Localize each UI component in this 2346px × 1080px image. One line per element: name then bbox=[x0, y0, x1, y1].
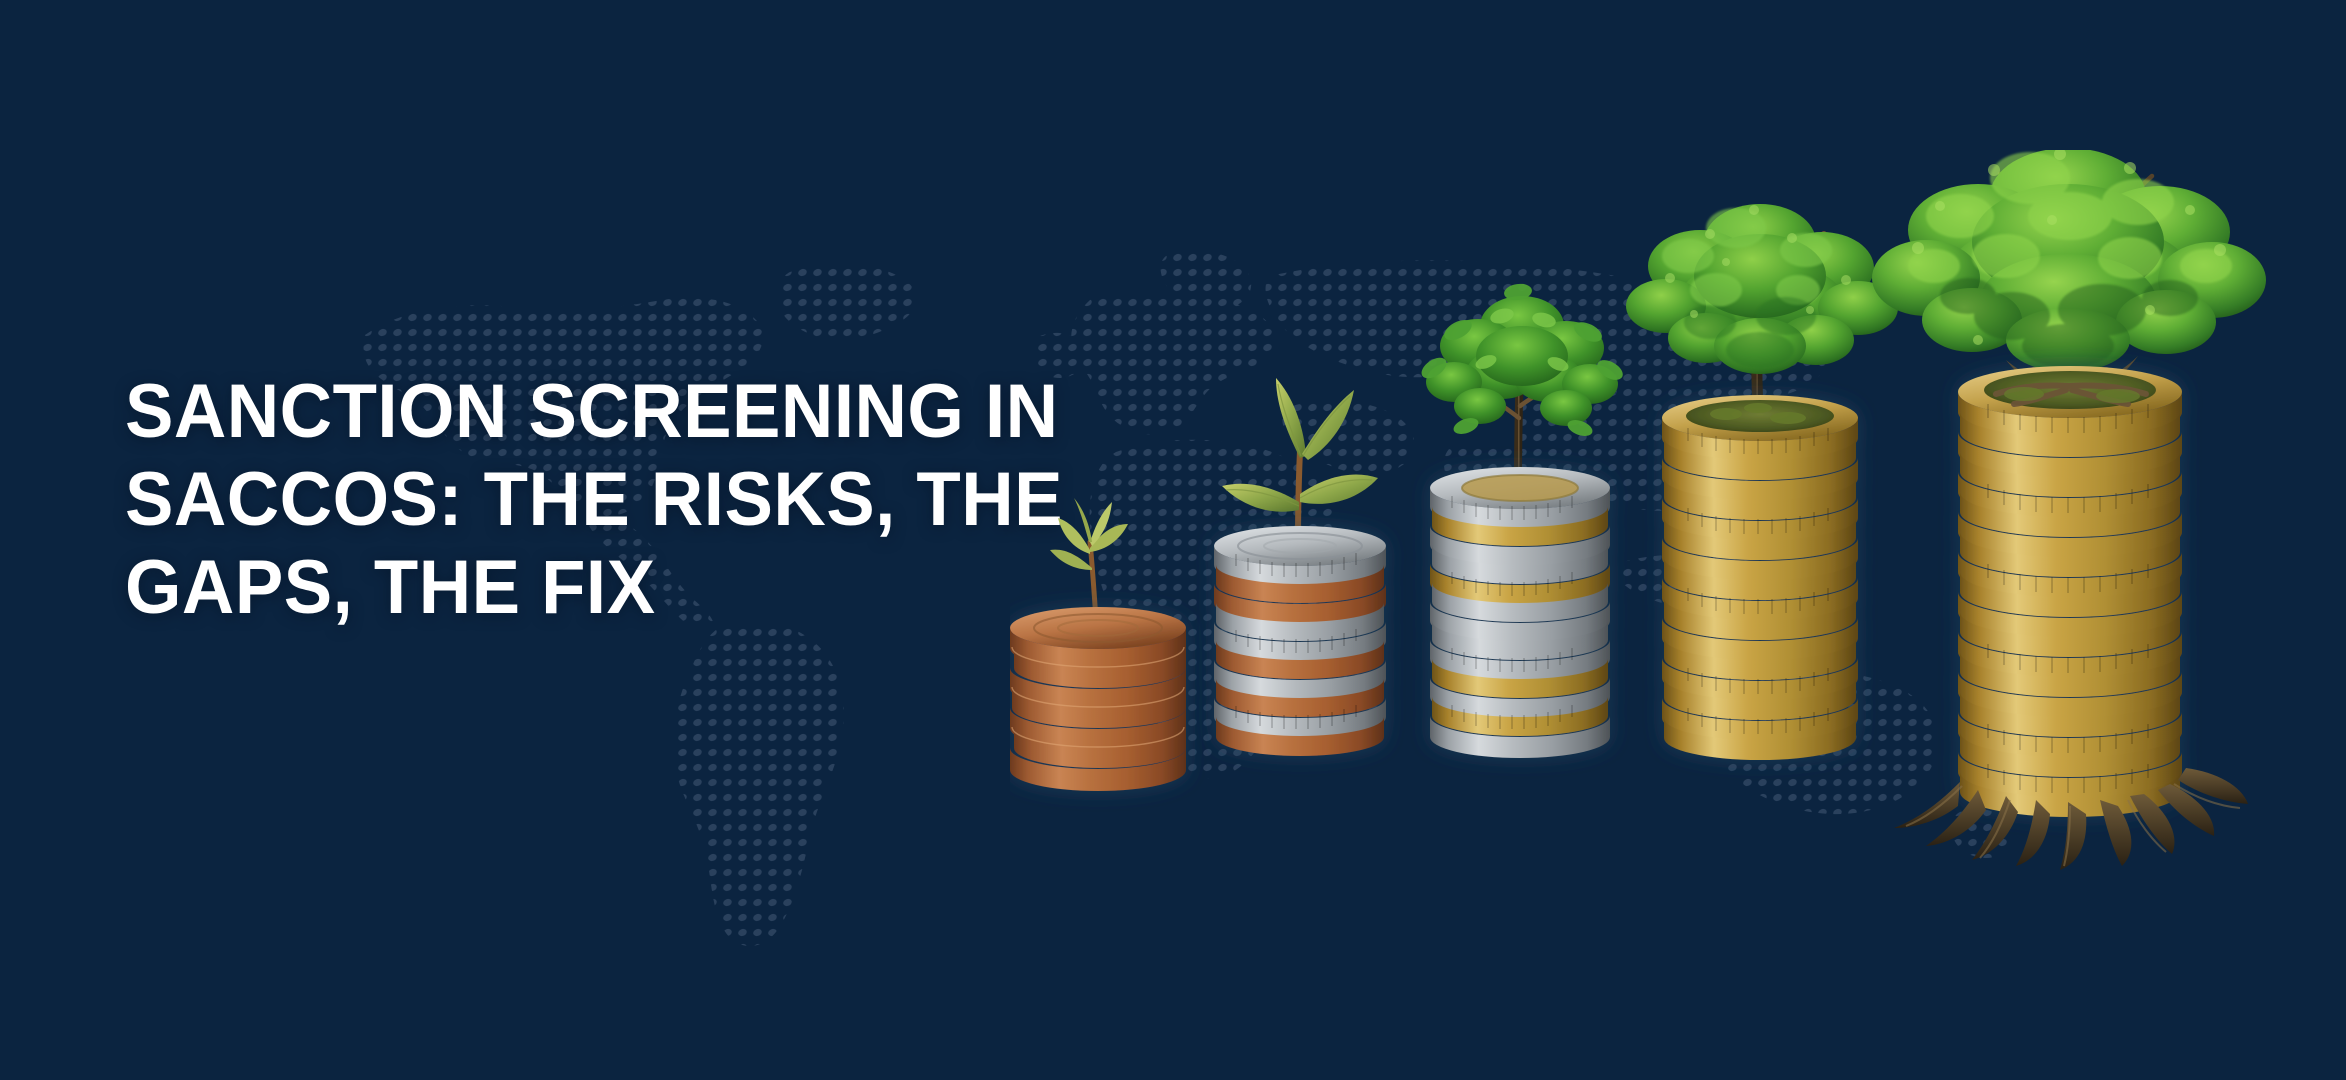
plant-young-tree bbox=[1626, 204, 1898, 410]
plant-leafy-sapling bbox=[1418, 282, 1626, 480]
plant-seedling bbox=[1222, 378, 1378, 540]
coin-stack-1 bbox=[1010, 498, 1186, 791]
hero-banner: SANCTION SCREENING IN SACCOS: THE RISKS,… bbox=[0, 0, 2346, 1080]
coins-gold bbox=[1662, 395, 1858, 760]
coins-copper bbox=[1010, 607, 1186, 791]
coins-copper-silver bbox=[1214, 526, 1386, 756]
plant-tiny-sprout bbox=[1050, 498, 1128, 620]
coins-gold-tall bbox=[1958, 366, 2182, 817]
coin-stack-4 bbox=[1626, 204, 1898, 760]
plant-mature-tree bbox=[1872, 150, 2266, 402]
coin-stack-2 bbox=[1214, 378, 1386, 756]
growth-coin-stacks-illustration bbox=[1010, 150, 2346, 940]
coins-silver-gold bbox=[1430, 467, 1610, 758]
coin-stack-5 bbox=[1872, 150, 2266, 870]
coin-stack-3 bbox=[1418, 282, 1626, 758]
